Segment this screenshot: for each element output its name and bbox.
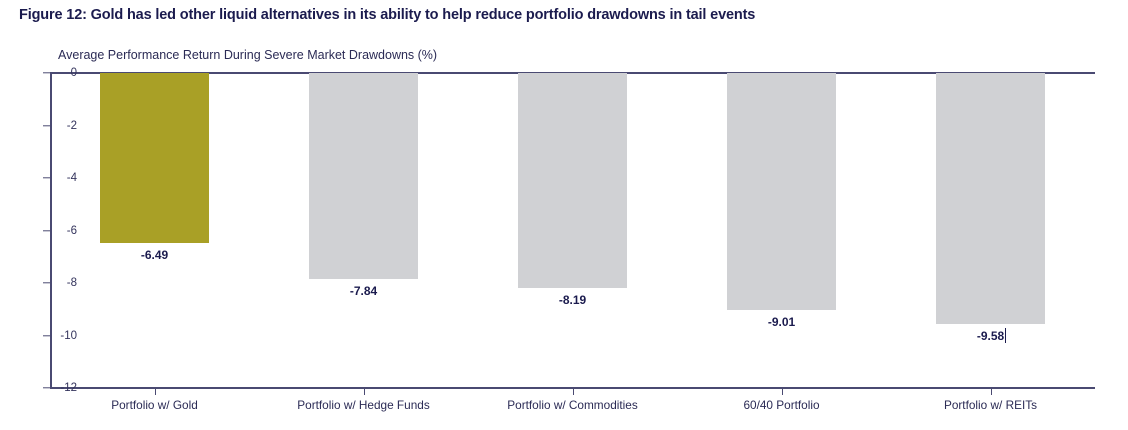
bar[interactable] <box>518 73 627 288</box>
x-axis-tick-mark <box>573 389 574 395</box>
bar-value-label: -7.84 <box>350 284 377 298</box>
bar-value-label: -8.19 <box>559 293 586 307</box>
bar[interactable] <box>100 73 209 243</box>
y-axis-tick-label: -8 <box>0 277 77 289</box>
bar[interactable] <box>936 73 1045 324</box>
y-axis-tick-label: -4 <box>0 172 77 184</box>
bar[interactable] <box>727 73 836 310</box>
x-axis-tick-label: Portfolio w/ Hedge Funds <box>297 398 429 412</box>
x-axis-tick-label: Portfolio w/ Commodities <box>507 398 637 412</box>
y-axis-tick-mark <box>43 125 50 126</box>
x-axis-tick-label: Portfolio w/ Gold <box>111 398 198 412</box>
text-cursor <box>1005 328 1006 343</box>
x-axis-tick-mark <box>364 389 365 395</box>
y-axis-tick-label: -2 <box>0 120 77 132</box>
y-axis-tick-mark <box>43 335 50 336</box>
x-axis-tick-mark <box>782 389 783 395</box>
y-axis-tick-label: -10 <box>0 330 77 342</box>
chart-subtitle: Average Performance Return During Severe… <box>58 48 437 62</box>
y-axis-tick-mark <box>43 387 50 388</box>
y-axis-tick-label: -6 <box>0 225 77 237</box>
x-axis-tick-mark <box>991 389 992 395</box>
y-axis-tick-label: 0 <box>0 67 77 79</box>
x-axis-tick-mark <box>155 389 156 395</box>
bar-chart: Average Performance Return During Severe… <box>0 0 1128 430</box>
bar-value-label: -9.58 <box>977 329 1004 343</box>
y-axis-tick-mark <box>43 72 50 73</box>
bar[interactable] <box>309 73 418 279</box>
y-axis-tick-label: -12 <box>0 382 77 394</box>
bar-value-label: -9.01 <box>768 315 795 329</box>
y-axis-tick-mark <box>43 282 50 283</box>
bar-value-label: -6.49 <box>141 248 168 262</box>
x-axis-tick-label: Portfolio w/ REITs <box>944 398 1037 412</box>
y-axis-tick-mark <box>43 177 50 178</box>
x-axis-tick-label: 60/40 Portfolio <box>743 398 819 412</box>
y-axis-tick-mark <box>43 230 50 231</box>
